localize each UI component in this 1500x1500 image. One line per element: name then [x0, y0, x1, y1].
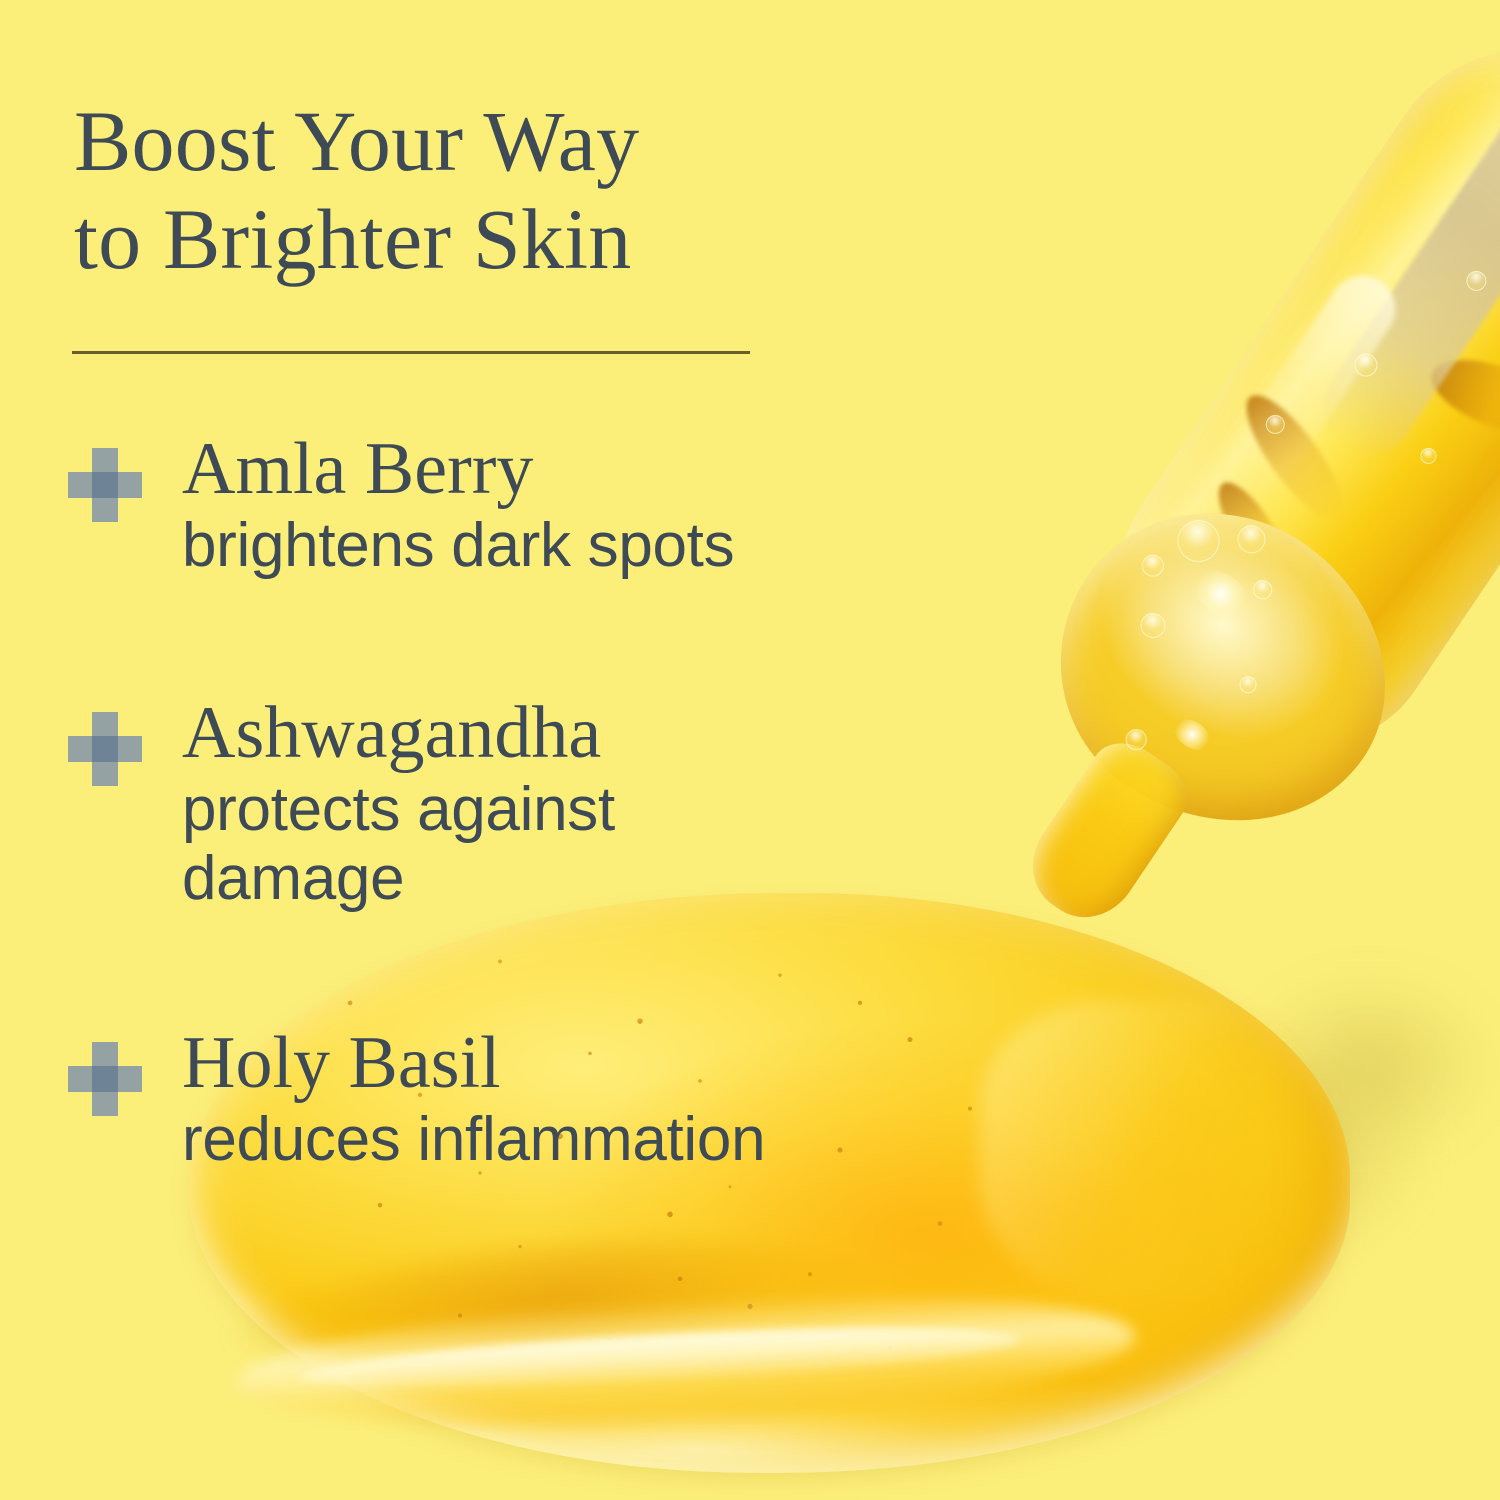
- plus-icon: [68, 712, 142, 786]
- benefit-term: Holy Basil: [182, 1024, 1022, 1102]
- benefit-text: Holy Basil reduces inflammation: [182, 1024, 1022, 1175]
- benefit-text: Ashwagandha protects against damage: [182, 694, 1022, 913]
- product-benefits-graphic: Boost Your Way to Brighter Skin Amla Ber…: [0, 0, 1500, 1500]
- benefit-description: brightens dark spots: [182, 512, 1022, 580]
- title-divider: [72, 351, 750, 354]
- plus-icon-center: [92, 1066, 118, 1092]
- headline-line-2: to Brighter Skin: [74, 190, 834, 288]
- plus-icon-center: [92, 472, 118, 498]
- plus-icon: [68, 1042, 142, 1116]
- text-layer: Boost Your Way to Brighter Skin Amla Ber…: [0, 0, 1500, 1500]
- benefit-description: reduces inflammation: [182, 1106, 1022, 1174]
- benefit-term: Amla Berry: [182, 430, 1022, 508]
- benefit-description: protects against damage: [182, 776, 742, 912]
- page-title: Boost Your Way to Brighter Skin: [74, 92, 834, 288]
- plus-icon: [68, 448, 142, 522]
- headline-line-1: Boost Your Way: [74, 92, 834, 190]
- plus-icon-center: [92, 736, 118, 762]
- benefit-text: Amla Berry brightens dark spots: [182, 430, 1022, 581]
- benefit-term: Ashwagandha: [182, 694, 1022, 772]
